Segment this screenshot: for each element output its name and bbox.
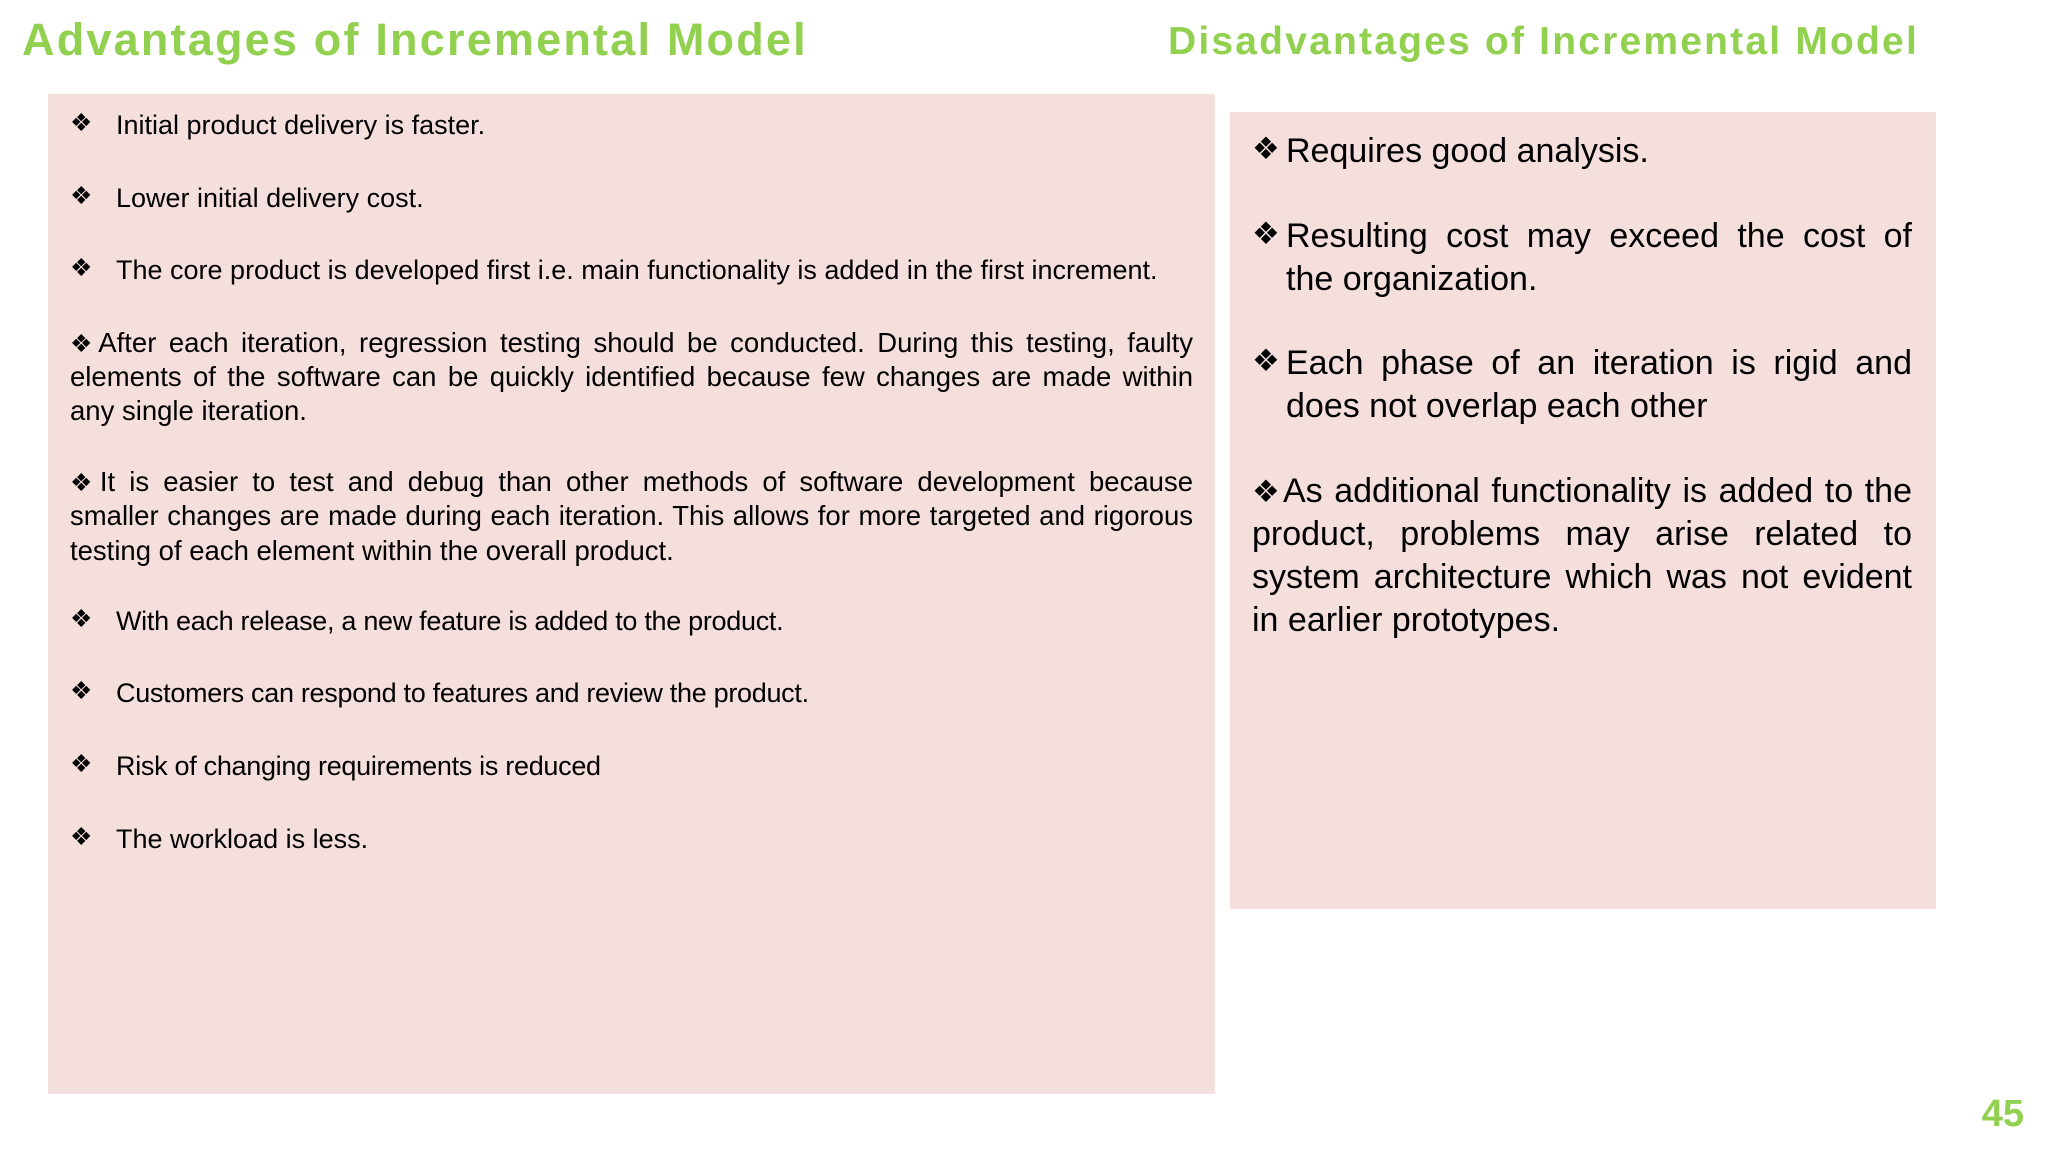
list-item-label: It is easier to test and debug than othe…	[70, 466, 1193, 566]
diamond-bullet-icon: ❖	[1252, 342, 1286, 378]
list-item: ❖It is easier to test and debug than oth…	[70, 465, 1193, 568]
diamond-bullet-icon: ❖	[1252, 130, 1286, 166]
disadvantages-panel: ❖ Requires good analysis. ❖ Resulting co…	[1230, 112, 1936, 909]
list-item: ❖ The core product is developed first i.…	[70, 253, 1193, 288]
advantages-panel: ❖ Initial product delivery is faster. ❖ …	[48, 94, 1215, 1094]
list-item-label: Initial product delivery is faster.	[116, 108, 1193, 143]
diamond-bullet-icon: ❖	[70, 676, 116, 706]
list-item: ❖ Customers can respond to features and …	[70, 676, 1193, 711]
page-title-disadvantages: Disadvantages of Incremental Model	[1168, 20, 1919, 64]
list-item: ❖ With each release, a new feature is ad…	[70, 604, 1193, 639]
list-item-label: After each iteration, regression testing…	[70, 327, 1193, 427]
list-item-label: Resulting cost may exceed the cost of th…	[1286, 215, 1912, 301]
list-item-label: The workload is less.	[116, 822, 1193, 857]
diamond-bullet-icon: ❖	[70, 108, 116, 138]
list-item: ❖ The workload is less.	[70, 822, 1193, 857]
diamond-bullet-icon: ❖	[70, 253, 116, 283]
list-item-label: Lower initial delivery cost.	[116, 181, 1193, 216]
list-item-label: Risk of changing requirements is reduced	[116, 749, 1193, 784]
diamond-bullet-icon: ❖	[70, 749, 116, 779]
list-item-label: As additional functionality is added to …	[1252, 472, 1912, 638]
list-item: ❖ Resulting cost may exceed the cost of …	[1252, 215, 1912, 301]
slide-root: Advantages of Incremental Model Disadvan…	[0, 0, 2048, 1152]
list-item: ❖ Requires good analysis.	[1252, 130, 1912, 173]
list-item: ❖As additional functionality is added to…	[1252, 470, 1912, 641]
diamond-bullet-icon: ❖	[1252, 215, 1286, 251]
list-item: ❖ Risk of changing requirements is reduc…	[70, 749, 1193, 784]
list-item-label: Customers can respond to features and re…	[116, 676, 1193, 711]
list-item-label: Each phase of an iteration is rigid and …	[1286, 342, 1912, 428]
page-number: 45	[1982, 1093, 2024, 1136]
diamond-bullet-icon: ❖	[70, 181, 116, 211]
page-title-advantages: Advantages of Incremental Model	[22, 14, 808, 66]
diamond-bullet-icon: ❖	[1252, 474, 1282, 509]
list-item-label: With each release, a new feature is adde…	[116, 604, 1193, 639]
diamond-bullet-icon: ❖	[70, 469, 99, 497]
diamond-bullet-icon: ❖	[70, 822, 116, 852]
list-item-label: Requires good analysis.	[1286, 130, 1912, 173]
list-item: ❖ Initial product delivery is faster.	[70, 108, 1193, 143]
list-item-label: The core product is developed first i.e.…	[116, 253, 1193, 288]
list-item: ❖ Each phase of an iteration is rigid an…	[1252, 342, 1912, 428]
list-item: ❖After each iteration, regression testin…	[70, 326, 1193, 429]
diamond-bullet-icon: ❖	[70, 604, 116, 634]
list-item: ❖ Lower initial delivery cost.	[70, 181, 1193, 216]
diamond-bullet-icon: ❖	[70, 330, 97, 358]
